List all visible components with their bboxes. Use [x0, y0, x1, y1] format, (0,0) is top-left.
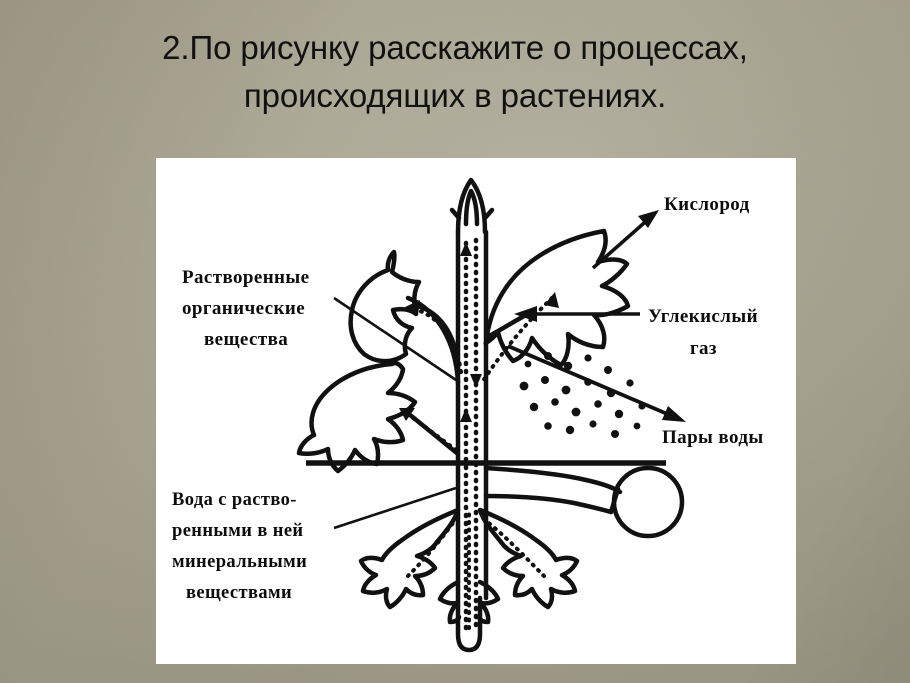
page-title: 2.По рисунку расскажите о процессах, про… — [55, 24, 855, 120]
label-oxygen: Кислород — [664, 194, 750, 215]
label-oxygen-text: Кислород — [664, 194, 750, 215]
label-water-vapour: Пары воды — [662, 427, 764, 448]
organics-flow-to-lower-left-leaf — [405, 412, 456, 450]
label-vapour-text: Пары воды — [662, 427, 764, 448]
label-water-with-minerals: Вода с раство- ренными в ней минеральным… — [172, 490, 307, 603]
title-line-1: 2.По рисунку расскажите о процессах, — [55, 24, 855, 72]
stem-flow-arrowheads — [460, 242, 482, 422]
label-minerals-line-2: ренными в ней — [172, 521, 304, 541]
plant-diagram-svg: Растворенные органические вещества Кисло… — [156, 158, 796, 664]
central-stem — [452, 180, 492, 650]
plant-diagram-figure: Растворенные органические вещества Кисло… — [156, 158, 796, 664]
title-line-2: происходящих в растениях. — [55, 72, 855, 120]
lower-left-leaf — [299, 363, 458, 471]
up-arrowhead-stem-mid — [460, 408, 472, 422]
label-co2-line-1: Углекислый — [648, 306, 758, 327]
label-organics-line-3: вещества — [204, 329, 288, 350]
label-minerals-line-1: Вода с раство- — [172, 490, 297, 510]
label-dissolved-organics: Растворенные органические вещества — [182, 267, 309, 350]
slide: 2.По рисунку расскажите о процессах, про… — [0, 0, 910, 683]
oxygen-out-arrow — [593, 210, 659, 268]
label-carbon-dioxide: Углекислый газ — [648, 306, 758, 359]
minerals-leader-line — [334, 488, 456, 528]
label-minerals-line-4: веществами — [186, 583, 292, 603]
label-organics-line-1: Растворенные — [182, 267, 309, 288]
down-arrowhead-stem — [470, 374, 482, 388]
stem-flow-dotted-arrows — [466, 240, 476, 628]
up-arrowhead-stem — [460, 242, 472, 256]
label-organics-line-2: органические — [182, 298, 305, 319]
label-minerals-line-3: минеральными — [172, 552, 307, 572]
upper-right-leaf — [486, 231, 628, 365]
label-co2-line-2: газ — [690, 338, 717, 359]
